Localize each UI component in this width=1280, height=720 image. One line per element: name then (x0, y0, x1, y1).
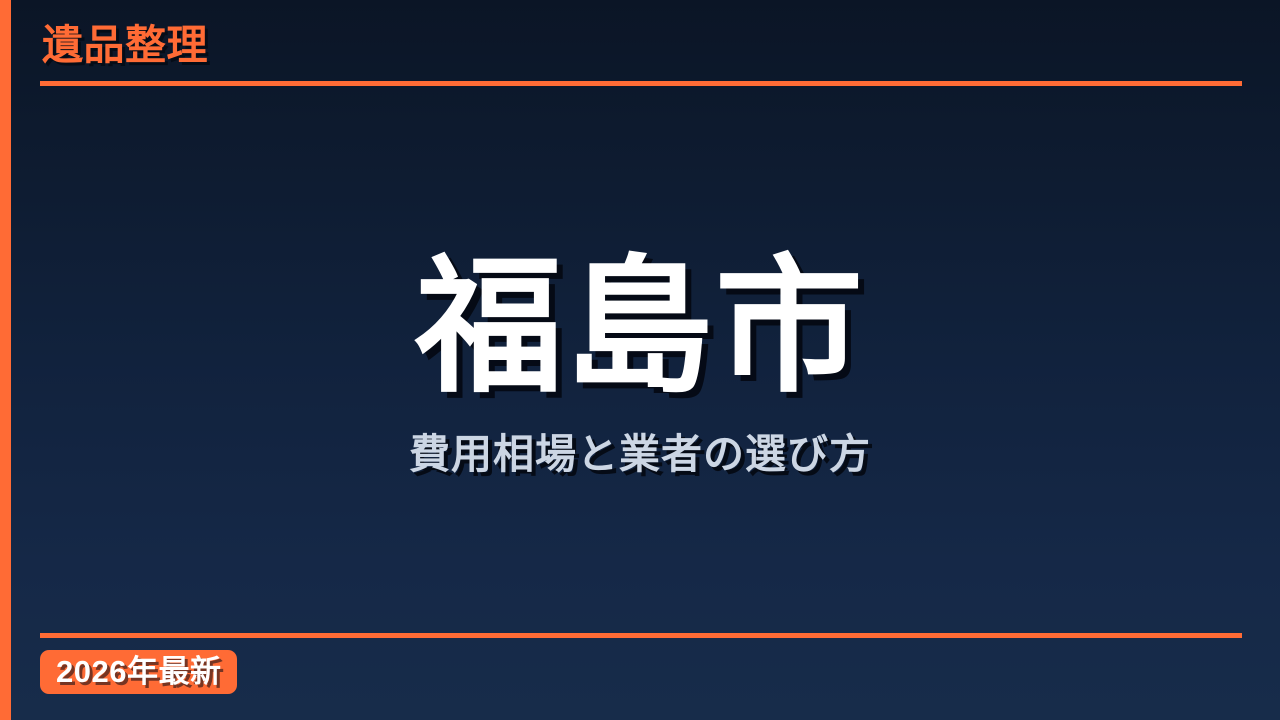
year-badge-label: 2026年最新 (56, 650, 221, 694)
page-title: 福島市 (415, 254, 865, 402)
footer-divider-rule (40, 633, 1242, 638)
title-group: 福島市 費用相場と業者の選び方 (0, 0, 1280, 720)
category-label: 遺品整理 (42, 18, 208, 72)
year-badge: 2026年最新 (40, 650, 237, 694)
title-slide: 遺品整理 福島市 費用相場と業者の選び方 2026年最新 (0, 0, 1280, 720)
page-subtitle: 費用相場と業者の選び方 (409, 434, 871, 475)
header-divider-rule (40, 81, 1242, 86)
left-accent-bar (0, 0, 11, 720)
header-block: 遺品整理 (40, 18, 1242, 88)
